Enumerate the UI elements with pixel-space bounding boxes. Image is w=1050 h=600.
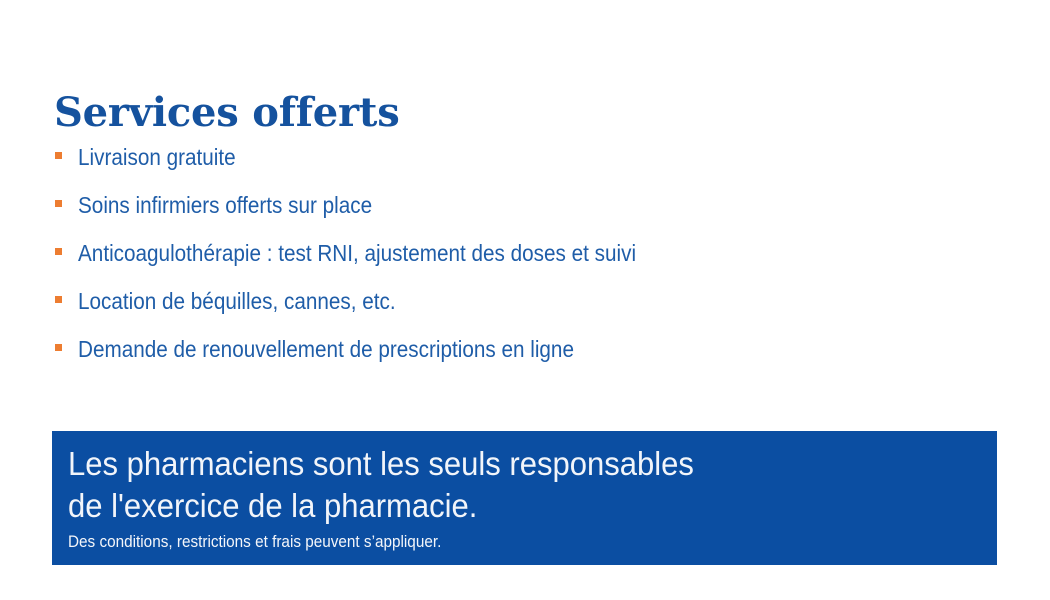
- list-item: Livraison gratuite: [54, 142, 954, 190]
- list-item: Soins infirmiers offerts sur place: [54, 190, 954, 238]
- list-item: Demande de renouvellement de prescriptio…: [54, 334, 954, 382]
- page-title: Services offerts: [54, 89, 400, 137]
- list-item-label: Demande de renouvellement de prescriptio…: [78, 334, 574, 364]
- list-item-label: Soins infirmiers offerts sur place: [78, 190, 372, 220]
- banner-headline-line-2: de l'exercice de la pharmacie.: [68, 485, 924, 527]
- square-bullet-icon: [55, 152, 62, 159]
- presentation-slide: Services offerts Livraison gratuite Soin…: [0, 0, 1050, 600]
- square-bullet-icon: [55, 200, 62, 207]
- list-item: Location de béquilles, cannes, etc.: [54, 286, 954, 334]
- banner-headline-line-1: Les pharmaciens sont les seuls responsab…: [68, 443, 924, 485]
- square-bullet-icon: [55, 344, 62, 351]
- square-bullet-icon: [55, 248, 62, 255]
- list-item: Anticoagulothérapie : test RNI, ajusteme…: [54, 238, 954, 286]
- services-bullet-list: Livraison gratuite Soins infirmiers offe…: [54, 142, 954, 382]
- banner-subtext: Des conditions, restrictions et frais pe…: [68, 530, 888, 554]
- banner-headline: Les pharmaciens sont les seuls responsab…: [68, 443, 924, 527]
- highlight-banner: Les pharmaciens sont les seuls responsab…: [52, 431, 997, 565]
- square-bullet-icon: [55, 296, 62, 303]
- list-item-label: Livraison gratuite: [78, 142, 236, 172]
- list-item-label: Location de béquilles, cannes, etc.: [78, 286, 396, 316]
- list-item-label: Anticoagulothérapie : test RNI, ajusteme…: [78, 238, 636, 268]
